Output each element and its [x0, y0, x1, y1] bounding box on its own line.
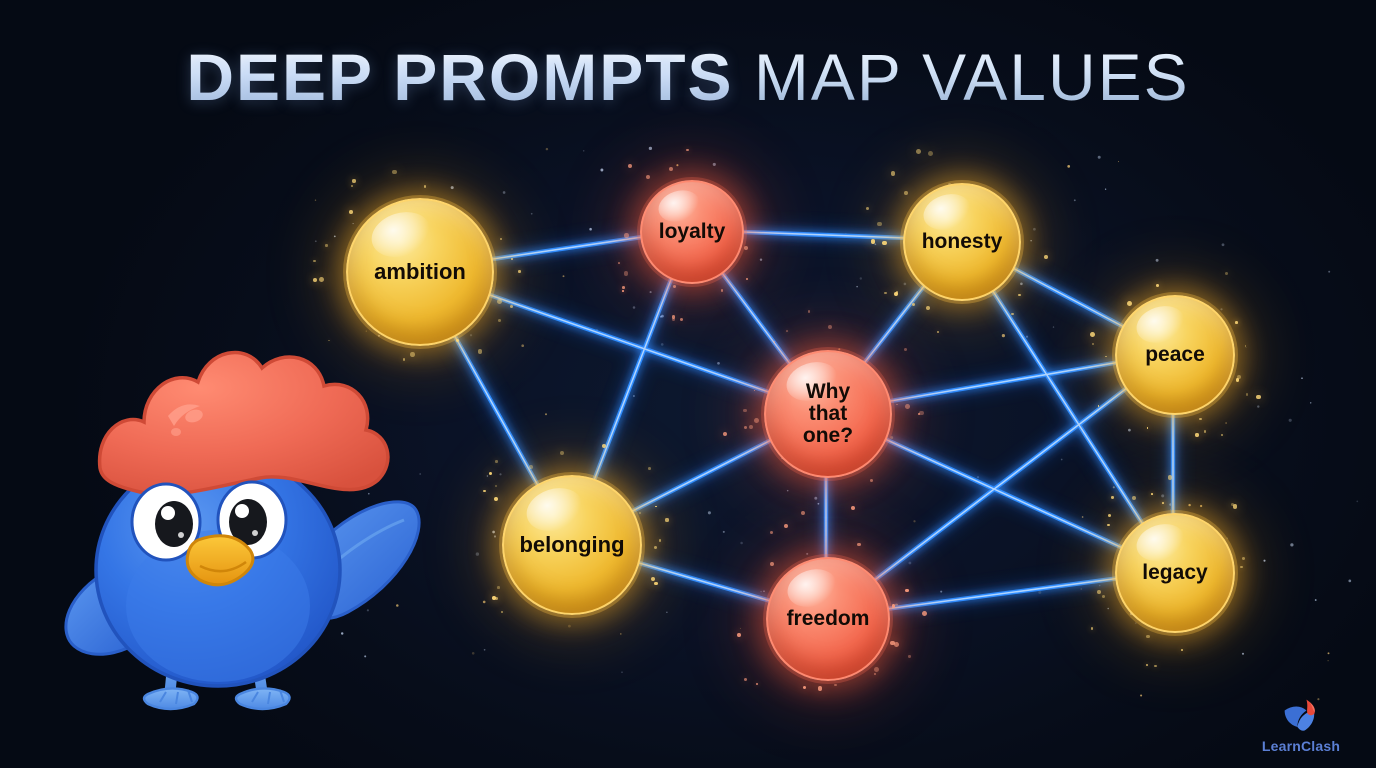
node-label-honesty: honesty	[922, 231, 1003, 253]
node-label-ambition: ambition	[374, 260, 466, 283]
bird-mascot	[48, 330, 428, 730]
graph-node-peace[interactable]: peace	[1115, 295, 1235, 415]
graph-node-center[interactable]: Whythatone?	[764, 350, 892, 478]
graph-node-ambition[interactable]: ambition	[346, 198, 494, 346]
learnclash-logo[interactable]: LearnClash	[1246, 696, 1356, 754]
node-label-peace: peace	[1145, 344, 1205, 366]
node-label-center: Whythatone?	[803, 381, 853, 448]
infographic-canvas: DEEP PROMPTS MAP VALUES ambitionloyaltyh…	[0, 0, 1376, 768]
graph-node-loyalty[interactable]: loyalty	[640, 180, 744, 284]
logo-wordmark: LearnClash	[1246, 738, 1356, 754]
learnclash-logo-icon	[1279, 696, 1323, 736]
node-label-legacy: legacy	[1142, 562, 1207, 584]
graph-node-freedom[interactable]: freedom	[766, 557, 890, 681]
node-label-freedom: freedom	[787, 608, 870, 630]
mascot-crest	[100, 352, 388, 494]
node-label-belonging: belonging	[519, 533, 624, 556]
graph-node-honesty[interactable]: honesty	[903, 183, 1021, 301]
graph-node-belonging[interactable]: belonging	[502, 475, 642, 615]
node-label-loyalty: loyalty	[659, 221, 726, 243]
graph-node-legacy[interactable]: legacy	[1115, 513, 1235, 633]
